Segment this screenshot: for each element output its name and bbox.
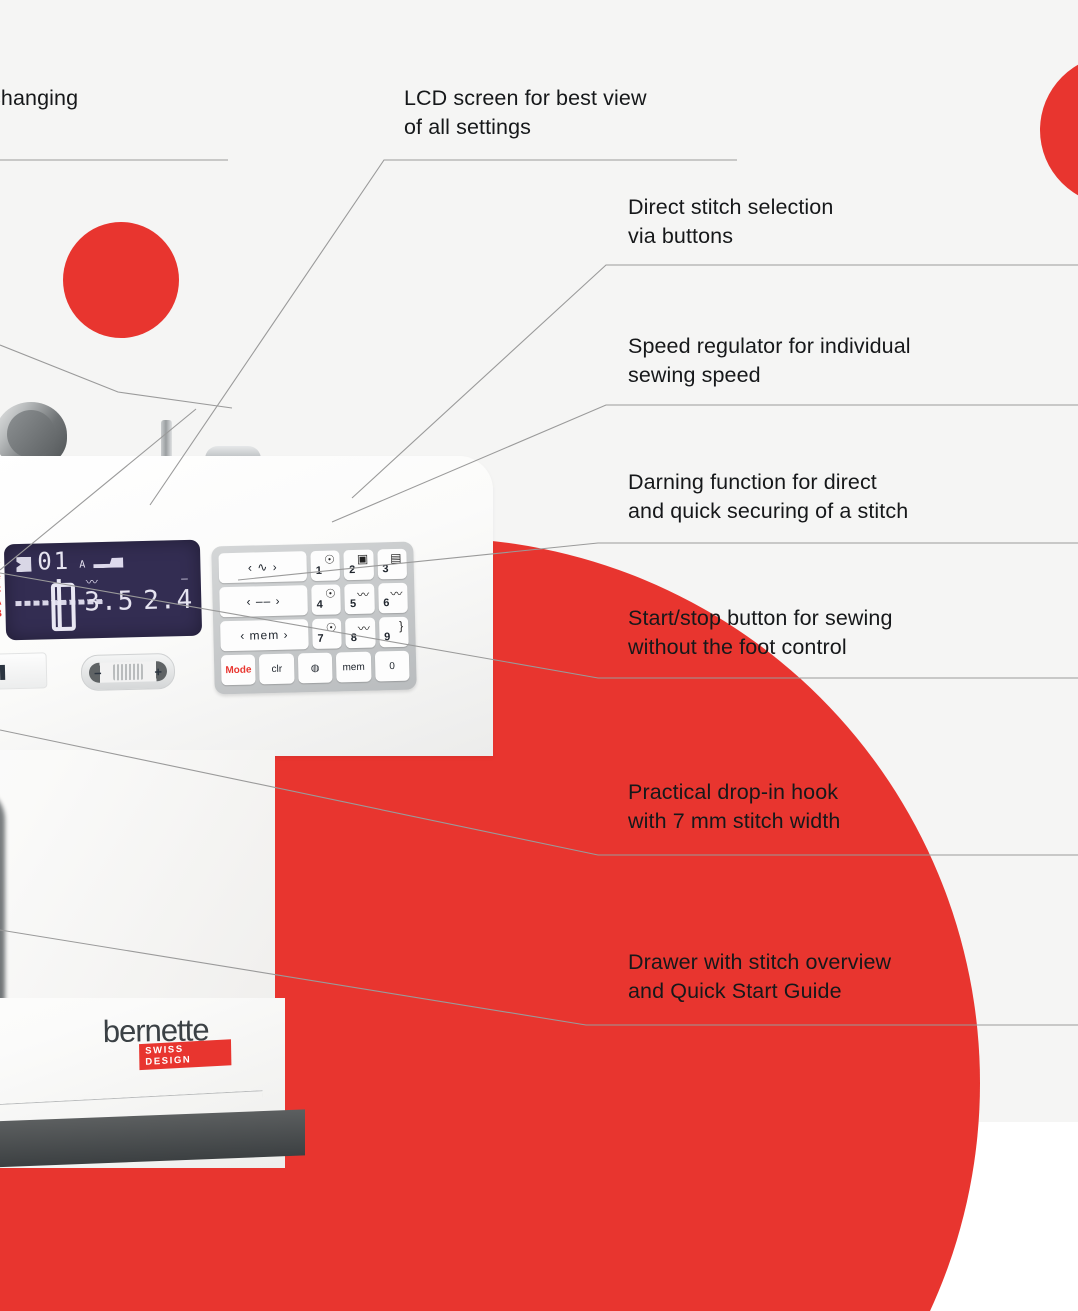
callout-drop-in-hook-line-2: with 7 mm stitch width [628, 807, 840, 836]
callout-drawer-line-2: and Quick Start Guide [628, 977, 891, 1006]
callout-direct-stitch-line-1: Direct stitch selection [628, 193, 833, 222]
callout-changing-light: on when changing s [0, 84, 78, 142]
leader-line-drop-in-hook [0, 730, 1078, 855]
leader-line-lcd-lower [0, 409, 196, 570]
callout-drop-in-hook: Practical drop-in hook with 7 mm stitch … [628, 778, 840, 836]
callout-speed-regulator-line-2: sewing speed [628, 361, 911, 390]
callout-start-stop-line-1: Start/stop button for sewing [628, 604, 893, 633]
leader-lines [0, 0, 1078, 1311]
callout-start-stop-line-2: without the foot control [628, 633, 893, 662]
callout-darning-line-2: and quick securing of a stitch [628, 497, 908, 526]
callout-direct-stitch-selection: Direct stitch selection via buttons [628, 193, 833, 251]
callout-changing-light-line-2: s [0, 113, 78, 142]
leader-line-darning [238, 543, 1078, 580]
callout-changing-light-line-1: on when changing [0, 84, 78, 113]
callout-drawer: Drawer with stitch overview and Quick St… [628, 948, 891, 1006]
callout-lcd-screen: LCD screen for best view of all settings [404, 84, 647, 142]
callout-speed-regulator: Speed regulator for individual sewing sp… [628, 332, 911, 390]
callout-drawer-line-1: Drawer with stitch overview [628, 948, 891, 977]
callout-drop-in-hook-line-1: Practical drop-in hook [628, 778, 840, 807]
callout-lcd-screen-line-2: of all settings [404, 113, 647, 142]
callout-lcd-screen-line-1: LCD screen for best view [404, 84, 647, 113]
leader-line-drawer [0, 930, 1078, 1025]
callout-darning-function: Darning function for direct and quick se… [628, 468, 908, 526]
callout-direct-stitch-line-2: via buttons [628, 222, 833, 251]
leader-line-start-stop [0, 573, 1078, 678]
leader-line-mode-labels [0, 345, 232, 408]
callout-darning-line-1: Darning function for direct [628, 468, 908, 497]
infographic-canvas: 01 A 〰 — 3.5 2.4 [0, 0, 1078, 1311]
callout-speed-regulator-line-1: Speed regulator for individual [628, 332, 911, 361]
callout-start-stop-button: Start/stop button for sewing without the… [628, 604, 893, 662]
